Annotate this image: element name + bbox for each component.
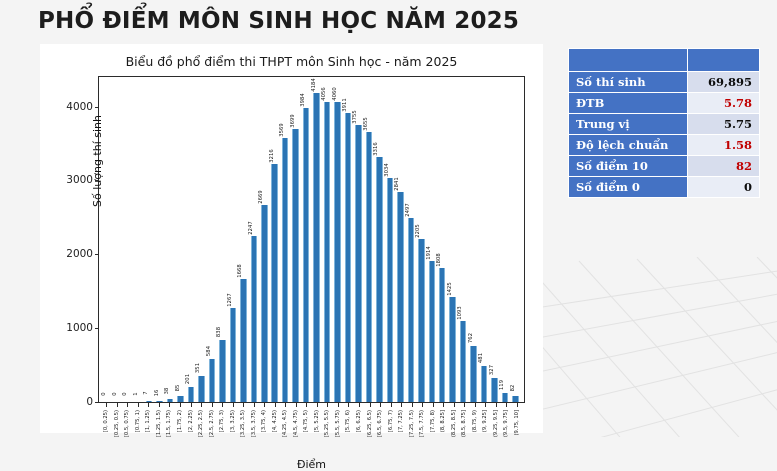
x-axis-slot: [4.5, 4.75): [291, 403, 302, 455]
x-axis-tick-mark: [517, 403, 518, 407]
bar: 4184: [313, 93, 319, 402]
bar-value-label: 481: [478, 353, 484, 363]
x-axis-slot: [7.25, 7.5): [406, 403, 417, 455]
bar-value-label: 1808: [436, 254, 442, 268]
x-axis-slot: [4.25, 4.5): [280, 403, 291, 455]
x-axis-tick-label: [2.25, 2.5): [198, 410, 204, 437]
x-axis-tick-mark: [243, 403, 244, 407]
bar: 838: [219, 340, 225, 402]
x-axis-tick-mark: [464, 403, 465, 407]
y-axis-tick-label: 3000: [66, 174, 99, 186]
stat-label: Số điểm 0: [569, 177, 688, 198]
x-axis-tick-mark: [106, 403, 107, 407]
y-axis-tick-label: 4000: [66, 101, 99, 113]
bar: 351: [198, 376, 204, 402]
stat-value: 5.75: [688, 114, 760, 135]
x-axis-tick-mark: [454, 403, 455, 407]
bar: 119: [502, 393, 508, 402]
x-axis-tick-label: [7.25, 7.5): [409, 410, 415, 437]
x-axis-slot: (8.75, 9): [470, 403, 481, 455]
x-axis-tick-mark: [222, 403, 223, 407]
x-axis-tick-mark: [338, 403, 339, 407]
x-axis-tick-mark: [296, 403, 297, 407]
x-axis-tick-mark: [380, 403, 381, 407]
x-axis-tick-mark: [212, 403, 213, 407]
bar-value-label: 762: [468, 333, 474, 343]
bar: 3316: [376, 157, 382, 402]
x-axis-tick-mark: [370, 403, 371, 407]
bar: 584: [209, 359, 215, 402]
background-grid-decoration: [517, 257, 777, 437]
chart-title: Biểu đồ phổ điểm thi THPT môn Sinh học -…: [40, 54, 543, 69]
x-axis-tick-label: (8, 8.25]: [440, 410, 446, 432]
bar-slot: 16: [154, 77, 164, 402]
x-axis-tick-label: [0, 0.25): [103, 410, 109, 432]
bar: 38: [167, 399, 173, 402]
x-axis-tick-label: [2, 2.25): [188, 410, 194, 432]
bar-value-label: 327: [489, 365, 495, 375]
x-axis-tick-label: [5.25, 5.5): [324, 410, 330, 437]
x-axis-tick-mark: [285, 403, 286, 407]
x-axis-tick-mark: [496, 403, 497, 407]
bar-slot: 1093: [458, 77, 468, 402]
bar-slot: 1: [133, 77, 143, 402]
x-axis-slot: [5.5, 5.75): [333, 403, 344, 455]
x-axis-tick-label: [4.5, 4.75): [293, 410, 299, 437]
bar-value-label: 3655: [363, 117, 369, 131]
bar: 3755: [355, 125, 361, 402]
bar-slot: 4060: [332, 77, 342, 402]
table-row: ĐTB5.78: [569, 93, 760, 114]
x-axis-slot: (9.75, 10]: [512, 403, 523, 455]
bar-slot: 201: [186, 77, 196, 402]
bar-slot: 38: [165, 77, 175, 402]
x-axis-slot: [7, 7.25): [396, 403, 407, 455]
bar: 85: [177, 396, 183, 402]
bar-slot: 3699: [290, 77, 300, 402]
x-axis-tick-mark: [485, 403, 486, 407]
bar-value-label: 0: [122, 392, 128, 395]
x-axis-tick-label: [3.25, 3.5): [240, 410, 246, 437]
bar: 481: [481, 366, 487, 402]
bar-slot: 3655: [364, 77, 374, 402]
x-axis-tick-label: [2.75, 3): [219, 410, 225, 432]
x-axis-slot: [3.25, 3.5): [238, 403, 249, 455]
statistics-table: Số thí sinh69,895ĐTB5.78Trung vị5.75Độ l…: [568, 48, 760, 198]
table-row: Số điểm 1082: [569, 156, 760, 177]
x-axis-tick-mark: [306, 403, 307, 407]
stat-value: 0: [688, 177, 760, 198]
x-axis-tick-mark: [412, 403, 413, 407]
bar-value-label: 82: [510, 385, 516, 392]
x-axis-slot: [2.5, 2.75): [206, 403, 217, 455]
x-axis-slot: [2.75, 3): [217, 403, 228, 455]
bar: 16: [156, 401, 162, 402]
bar-value-label: 0: [101, 392, 107, 395]
bar-slot: 481: [479, 77, 489, 402]
x-axis-tick-label: [6, 6.25): [356, 410, 362, 432]
bar-value-label: 0: [112, 392, 118, 395]
x-axis-slot: [6, 6.25): [354, 403, 365, 455]
bar-slot: 3984: [301, 77, 311, 402]
bar-value-label: 119: [499, 380, 505, 390]
bar: 201: [188, 387, 194, 402]
x-axis-tick-label: (9.5, 9.75]: [503, 410, 509, 437]
stat-value: 82: [688, 156, 760, 177]
bar-value-label: 2205: [415, 224, 421, 238]
x-axis-tick-label: [4.25, 4.5): [282, 410, 288, 437]
bar-slot: 7: [144, 77, 154, 402]
x-axis-tick-label: [7, 7.25): [398, 410, 404, 432]
bar: 1808: [439, 268, 445, 402]
x-axis-tick-mark: [327, 403, 328, 407]
bar: 1425: [449, 297, 455, 402]
bar-value-label: 1: [133, 392, 139, 395]
x-axis-tick-label: [6.25, 6.5): [367, 410, 373, 437]
x-axis-tick-label: [7.75, 8): [430, 410, 436, 432]
x-axis-tick-label: (8.25, 8.5]: [451, 410, 457, 437]
bar-slot: 2247: [249, 77, 259, 402]
stat-label: Trung vị: [569, 114, 688, 135]
x-axis-tick-mark: [275, 403, 276, 407]
x-axis-tick-mark: [391, 403, 392, 407]
x-axis-slot: (8.5, 8.75]: [459, 403, 470, 455]
x-axis-slot: [6.25, 6.5): [364, 403, 375, 455]
x-axis-slot: [4, 4.25): [270, 403, 281, 455]
x-axis-slot: (9.5, 9.75]: [501, 403, 512, 455]
bar-slot: 82: [510, 77, 520, 402]
x-axis-tick-label: (9.75, 10]: [514, 410, 520, 436]
bar-value-label: 3216: [269, 150, 275, 164]
plot-area: Số lượng thí sinh 01000200030004000 0001…: [98, 76, 525, 403]
x-axis-slot: (8.25, 8.5]: [449, 403, 460, 455]
table-row: Trung vị5.75: [569, 114, 760, 135]
x-axis-tick-label: [5.75, 6): [345, 410, 351, 432]
x-axis-slot: [0.25, 0.5): [112, 403, 123, 455]
x-axis-slot: [6.5, 6.75): [375, 403, 386, 455]
bar-value-label: 3034: [384, 163, 390, 177]
x-axis-tick-mark: [169, 403, 170, 407]
bar: 2247: [251, 236, 257, 402]
bar: 762: [470, 346, 476, 402]
bar-value-label: 1425: [447, 282, 453, 296]
bar: 1267: [230, 308, 236, 402]
bar-slot: 1425: [447, 77, 457, 402]
x-axis-tick-mark: [443, 403, 444, 407]
bar-value-label: 3911: [342, 98, 348, 112]
x-axis-tick-label: (9.25, 9.5]: [493, 410, 499, 437]
x-axis-tick-mark: [191, 403, 192, 407]
x-axis-slot: [5.25, 5.5): [322, 403, 333, 455]
y-axis-tick-label: 2000: [66, 248, 99, 260]
x-axis-tick-mark: [159, 403, 160, 407]
x-axis-slot: (9, 9.25]: [480, 403, 491, 455]
x-axis-slot: [2.25, 2.5): [196, 403, 207, 455]
bar-slot: 1267: [228, 77, 238, 402]
bar-value-label: 4060: [332, 87, 338, 101]
bar-value-label: 7: [143, 392, 149, 395]
bar-value-label: 1668: [237, 264, 243, 278]
x-axis-tick-mark: [180, 403, 181, 407]
bar-value-label: 3569: [279, 124, 285, 138]
bar-value-label: 38: [164, 388, 170, 395]
x-axis-slot: [1, 1.25): [143, 403, 154, 455]
bar: 2841: [397, 192, 403, 402]
x-axis-tick-label: [4.75, 5): [303, 410, 309, 432]
header-cell-value: [688, 49, 760, 72]
x-axis-slot: [7.75, 8): [427, 403, 438, 455]
x-axis-slot: [4.75, 5): [301, 403, 312, 455]
bar: 3216: [271, 164, 277, 402]
bar-slot: 3911: [343, 77, 353, 402]
bar: 3699: [292, 129, 298, 402]
bar-slot: 2841: [395, 77, 405, 402]
bar-slot: 0: [102, 77, 112, 402]
bar-slot: 2205: [416, 77, 426, 402]
x-axis-tick-label: [1.25, 1.5): [156, 410, 162, 437]
x-axis-tick-label: [5.5, 5.75): [335, 410, 341, 437]
bar: 3034: [387, 178, 393, 402]
bar-slot: 584: [207, 77, 217, 402]
x-axis-tick-label: [2.5, 2.75): [209, 410, 215, 437]
x-axis-slot: [7.5, 7.75): [417, 403, 428, 455]
x-axis-slot: [1.25, 1.5): [154, 403, 165, 455]
x-axis-ticks: [0, 0.25)[0.25, 0.5)[0.5, 0.75)[0.75, 1)…: [98, 403, 525, 455]
bar-value-label: 3316: [373, 142, 379, 156]
bar-slot: 4184: [311, 77, 321, 402]
bar-slot: 3569: [280, 77, 290, 402]
stat-label: Số điểm 10: [569, 156, 688, 177]
bar-value-label: 2841: [394, 177, 400, 191]
bar: 327: [491, 378, 497, 402]
bar: 4060: [334, 102, 340, 402]
x-axis-tick-mark: [148, 403, 149, 407]
header-cell-label: [569, 49, 688, 72]
page-title: PHỔ ĐIỂM MÔN SINH HỌC NĂM 2025: [38, 8, 519, 34]
bar-slot: 85: [175, 77, 185, 402]
bar: 1668: [240, 279, 246, 402]
bar-value-label: 3984: [300, 93, 306, 107]
x-axis-tick-label: [1, 1.25): [145, 410, 151, 432]
x-axis-tick-label: [4, 4.25): [272, 410, 278, 432]
x-axis-tick-mark: [348, 403, 349, 407]
bar-value-label: 3699: [290, 114, 296, 128]
bar-value-label: 2247: [248, 221, 254, 235]
x-axis-slot: [1.75, 2): [175, 403, 186, 455]
x-axis-slot: (8, 8.25]: [438, 403, 449, 455]
x-axis-tick-label: [0.5, 0.75): [124, 410, 130, 437]
bar-value-label: 201: [185, 374, 191, 384]
x-axis-tick-mark: [117, 403, 118, 407]
bar-slot: 1808: [437, 77, 447, 402]
bar: 1093: [460, 321, 466, 402]
bar-value-label: 16: [154, 389, 160, 396]
x-axis-slot: (9.25, 9.5]: [491, 403, 502, 455]
bar: 3911: [345, 113, 351, 402]
bar-value-label: 351: [195, 363, 201, 373]
bar-value-label: 1267: [227, 294, 233, 308]
x-axis-slot: [5, 5.25): [312, 403, 323, 455]
x-axis-tick-label: [7.5, 7.75): [419, 410, 425, 437]
stat-value: 69,895: [688, 72, 760, 93]
stat-label: Độ lệch chuẩn: [569, 135, 688, 156]
bar: 2669: [261, 205, 267, 402]
x-axis-tick-label: (8.75, 9): [472, 410, 478, 432]
bar-slot: 3034: [385, 77, 395, 402]
bar: 3655: [366, 132, 372, 402]
x-axis-tick-label: (9, 9.25]: [482, 410, 488, 432]
x-axis-tick-mark: [422, 403, 423, 407]
table-row: Số thí sinh69,895: [569, 72, 760, 93]
bar-value-label: 838: [216, 327, 222, 337]
x-axis-tick-mark: [475, 403, 476, 407]
bar-value-label: 584: [206, 346, 212, 356]
bar-value-label: 85: [175, 384, 181, 391]
stat-label: ĐTB: [569, 93, 688, 114]
x-axis-slot: [5.75, 6): [343, 403, 354, 455]
y-axis-tick-label: 1000: [66, 322, 99, 334]
x-axis-tick-label: [3.75, 4): [261, 410, 267, 432]
x-axis-tick-mark: [201, 403, 202, 407]
stat-value: 5.78: [688, 93, 760, 114]
bar: 4056: [324, 102, 330, 402]
x-axis-title: Điểm: [98, 458, 525, 471]
bar: 3984: [303, 108, 309, 402]
bar-slot: 0: [112, 77, 122, 402]
bar-slot: 838: [217, 77, 227, 402]
table-header-row: [569, 49, 760, 72]
x-axis-slot: [3.75, 4): [259, 403, 270, 455]
bar-slot: 1668: [238, 77, 248, 402]
bar-slot: 119: [500, 77, 510, 402]
x-axis-tick-mark: [138, 403, 139, 407]
bar-slot: 3316: [374, 77, 384, 402]
x-axis-slot: [0, 0.25): [101, 403, 112, 455]
x-axis-tick-label: [0.25, 0.5): [114, 410, 120, 437]
x-axis-tick-mark: [506, 403, 507, 407]
x-axis-slot: [0.5, 0.75): [122, 403, 133, 455]
x-axis-tick-label: [5, 5.25): [314, 410, 320, 432]
x-axis-tick-label: [6.5, 6.75): [377, 410, 383, 437]
bar-slot: 2669: [259, 77, 269, 402]
x-axis-tick-mark: [264, 403, 265, 407]
bar: 3569: [282, 138, 288, 402]
x-axis-slot: [0.75, 1): [133, 403, 144, 455]
bar-value-label: 4056: [321, 88, 327, 102]
bar-value-label: 4184: [311, 78, 317, 92]
bar-value-label: 1093: [457, 306, 463, 320]
x-axis-tick-label: [1.75, 2): [177, 410, 183, 432]
x-axis-slot: [3.5, 3.75): [248, 403, 259, 455]
bar: 7: [146, 401, 152, 402]
bar: 2205: [418, 239, 424, 402]
x-axis-slot: [3, 3.25): [227, 403, 238, 455]
x-axis-tick-label: [3, 3.25): [230, 410, 236, 432]
x-axis-slot: [1.5, 1.75): [164, 403, 175, 455]
bar-slot: 1914: [427, 77, 437, 402]
x-axis-tick-label: [6.75, 7): [388, 410, 394, 432]
table-header: [569, 49, 760, 72]
x-axis-slot: [2, 2.25): [185, 403, 196, 455]
bar: 2497: [408, 218, 414, 402]
x-axis-tick-label: (8.5, 8.75]: [461, 410, 467, 437]
table-row: Số điểm 00: [569, 177, 760, 198]
bar: 82: [512, 396, 518, 402]
x-axis-tick-label: [0.75, 1): [135, 410, 141, 432]
bar-slot: 327: [489, 77, 499, 402]
table-row: Độ lệch chuẩn1.58: [569, 135, 760, 156]
bar-series: 0001716388520135158483812671668224726693…: [99, 77, 524, 402]
bar-value-label: 2497: [405, 203, 411, 217]
x-axis-tick-mark: [433, 403, 434, 407]
x-axis-tick-label: [3.5, 3.75): [251, 410, 257, 437]
bar-value-label: 1914: [426, 246, 432, 260]
bar-value-label: 3755: [352, 110, 358, 124]
bar-slot: 2497: [406, 77, 416, 402]
x-axis-tick-mark: [359, 403, 360, 407]
x-axis-slot: [6.75, 7): [385, 403, 396, 455]
bar: 1914: [429, 261, 435, 402]
bar-slot: 4056: [322, 77, 332, 402]
bar-value-label: 2669: [258, 190, 264, 204]
x-axis-tick-mark: [233, 403, 234, 407]
x-axis-tick-mark: [401, 403, 402, 407]
table-body: Số thí sinh69,895ĐTB5.78Trung vị5.75Độ l…: [569, 72, 760, 198]
stat-label: Số thí sinh: [569, 72, 688, 93]
stat-value: 1.58: [688, 135, 760, 156]
chart-card: Biểu đồ phổ điểm thi THPT môn Sinh học -…: [40, 44, 543, 433]
x-axis-tick-mark: [317, 403, 318, 407]
x-axis-tick-mark: [254, 403, 255, 407]
x-axis-tick-label: [1.5, 1.75): [166, 410, 172, 437]
bar-slot: 0: [123, 77, 133, 402]
x-axis-tick-mark: [127, 403, 128, 407]
